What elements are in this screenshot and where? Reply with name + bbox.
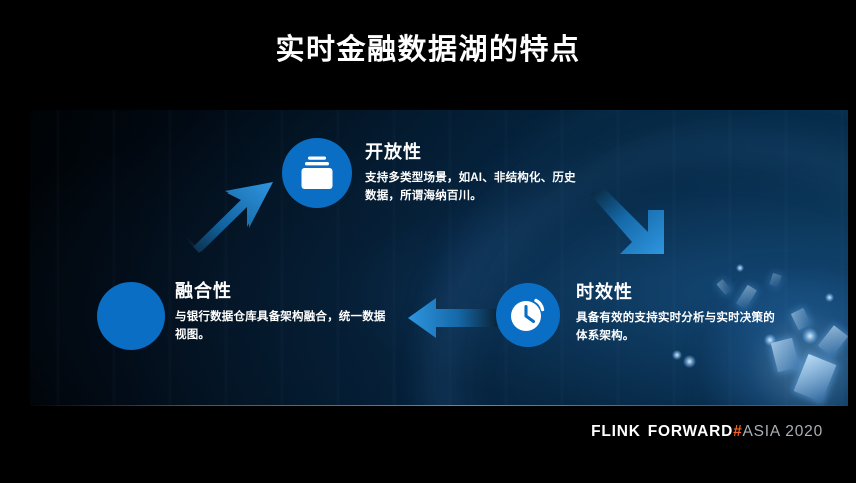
timeliness-icon-circle — [496, 283, 560, 347]
timeliness-title: 时效性 — [576, 283, 786, 301]
openness-description: 支持多类型场景，如AI、非结构化、历史数据，所谓海纳百川。 — [365, 170, 580, 206]
brand-hash: # — [733, 423, 742, 440]
fusion-description: 与银行数据仓库具备架构融合，统一数据视图。 — [175, 309, 390, 345]
fusion-text-block: 融合性 与银行数据仓库具备架构融合，统一数据视图。 — [175, 282, 390, 345]
particle-cube — [818, 325, 848, 357]
timeliness-text-block: 时效性 具备有效的支持实时分析与实时决策的体系架构。 — [576, 283, 786, 346]
arrow-up-right — [185, 180, 275, 255]
particle-cube — [794, 354, 837, 402]
openness-title: 开放性 — [365, 143, 580, 161]
particle-dot — [683, 355, 696, 368]
particle-dot — [825, 293, 834, 302]
timeliness-description: 具备有效的支持实时分析与实时决策的体系架构。 — [576, 310, 786, 346]
arrow-down-right — [588, 188, 678, 260]
brand-flink: FLINK — [591, 423, 641, 440]
panel-bottom-divider — [30, 405, 848, 406]
card-stack-icon — [297, 153, 337, 193]
particle-dot — [736, 264, 744, 272]
particle-cube — [791, 308, 811, 330]
brand-event: ASIA 2020 — [743, 423, 823, 440]
page-title: 实时金融数据湖的特点 — [0, 33, 856, 68]
clock-icon — [506, 293, 550, 337]
content-panel: 开放性 支持多类型场景，如AI、非结构化、历史数据，所谓海纳百川。 时效性 具备… — [30, 110, 848, 406]
fusion-icon-circle — [97, 282, 165, 350]
slide-canvas: 实时金融数据湖的特点 — [0, 0, 856, 483]
fusion-title: 融合性 — [175, 282, 390, 300]
brand-forward: FORWARD — [648, 423, 733, 440]
arrow-left — [408, 296, 500, 340]
openness-icon-circle — [282, 138, 352, 208]
particle-dot — [802, 328, 818, 344]
footer-brand-logo: FLINKFORWARD#ASIA 2020 — [591, 424, 823, 440]
particle-dot — [672, 350, 682, 360]
openness-text-block: 开放性 支持多类型场景，如AI、非结构化、历史数据，所谓海纳百川。 — [365, 143, 580, 206]
